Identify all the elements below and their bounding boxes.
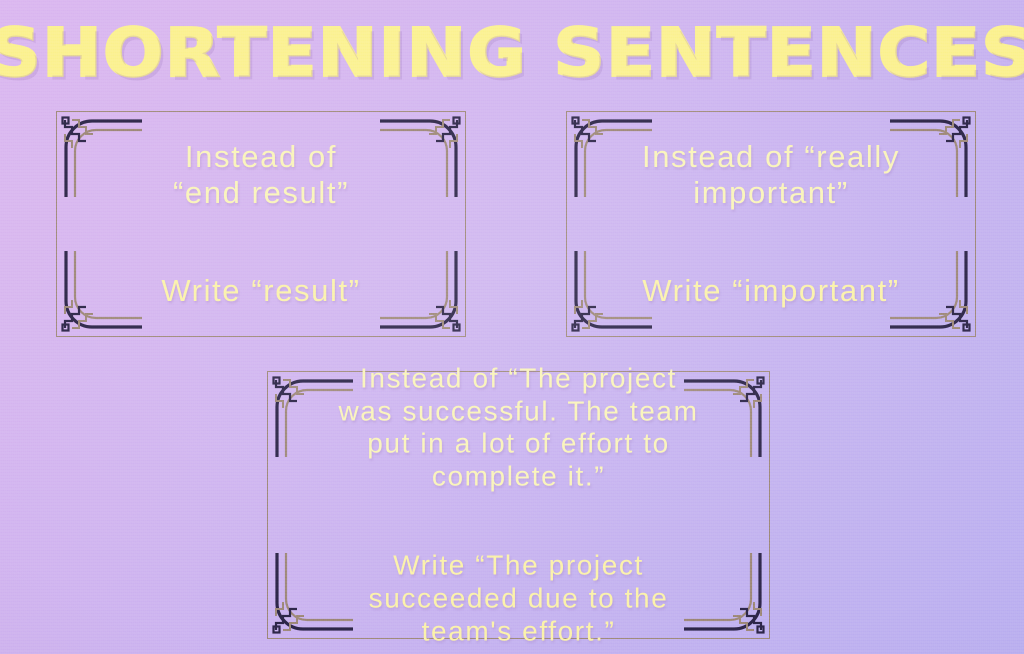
tip-card-1-text: Instead of “end result” Write “result” bbox=[43, 103, 479, 345]
write-instead-phrase: Write “important” bbox=[541, 273, 1001, 309]
instead-of-phrase: Instead of “The project was successful. … bbox=[250, 362, 787, 493]
tip-card-2: Instead of “really important” Write “imp… bbox=[566, 111, 976, 337]
instead-of-phrase: Instead of “really important” bbox=[541, 139, 1001, 211]
tip-card-1: Instead of “end result” Write “result” bbox=[56, 111, 466, 337]
page-title: SHORTENING SENTENCES bbox=[0, 20, 1024, 86]
write-instead-phrase: Write “result” bbox=[43, 273, 479, 309]
tip-card-2-text: Instead of “really important” Write “imp… bbox=[541, 103, 1001, 345]
instead-of-phrase: Instead of “end result” bbox=[43, 139, 479, 211]
tip-card-3-text: Instead of “The project was successful. … bbox=[250, 329, 787, 654]
write-instead-phrase: Write “The project succeeded due to the … bbox=[250, 550, 787, 648]
tip-card-3: Instead of “The project was successful. … bbox=[267, 371, 770, 639]
